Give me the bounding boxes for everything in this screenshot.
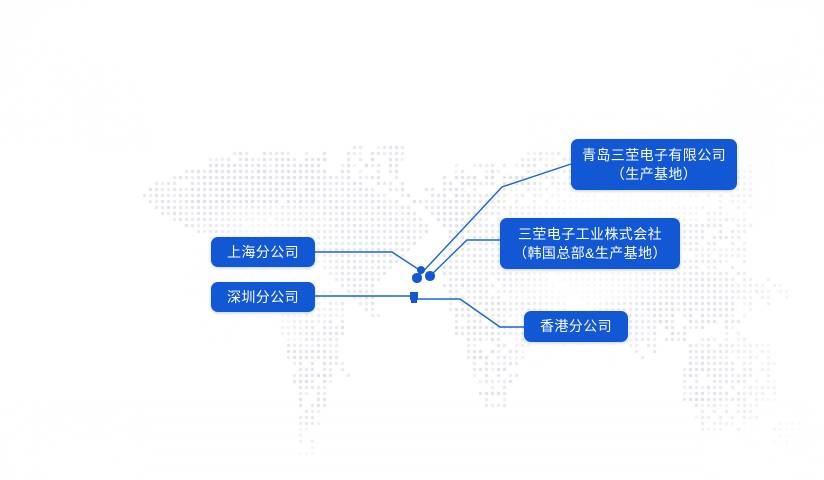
label-korea-line1: 三茔电子工业株式会社: [518, 225, 662, 243]
m-korea[interactable]: [425, 271, 434, 280]
m-qingdao[interactable]: [412, 273, 421, 282]
label-korea-line2: （韩国总部&生产基地）: [513, 244, 667, 262]
label-shenzhen-branch[interactable]: 深圳分公司: [211, 282, 315, 312]
label-qingdao-line1: 青岛三茔电子有限公司: [582, 146, 726, 164]
label-shenzhen-text: 深圳分公司: [227, 288, 299, 306]
label-shanghai-branch[interactable]: 上海分公司: [211, 237, 315, 267]
m-shanghai[interactable]: [417, 266, 425, 274]
dotted-world-map: [0, 0, 824, 480]
m-hongkong[interactable]: [411, 297, 418, 304]
label-hongkong-text: 香港分公司: [540, 317, 612, 335]
label-qingdao-line2: （生产基地）: [611, 165, 697, 183]
label-shanghai-text: 上海分公司: [227, 243, 299, 261]
label-korea-hq[interactable]: 三茔电子工业株式会社 （韩国总部&生产基地）: [500, 218, 680, 269]
label-qingdao[interactable]: 青岛三茔电子有限公司 （生产基地）: [571, 139, 737, 190]
world-map-infographic: 青岛三茔电子有限公司 （生产基地） 三茔电子工业株式会社 （韩国总部&生产基地）…: [0, 0, 824, 480]
label-hongkong-branch[interactable]: 香港分公司: [524, 311, 628, 342]
